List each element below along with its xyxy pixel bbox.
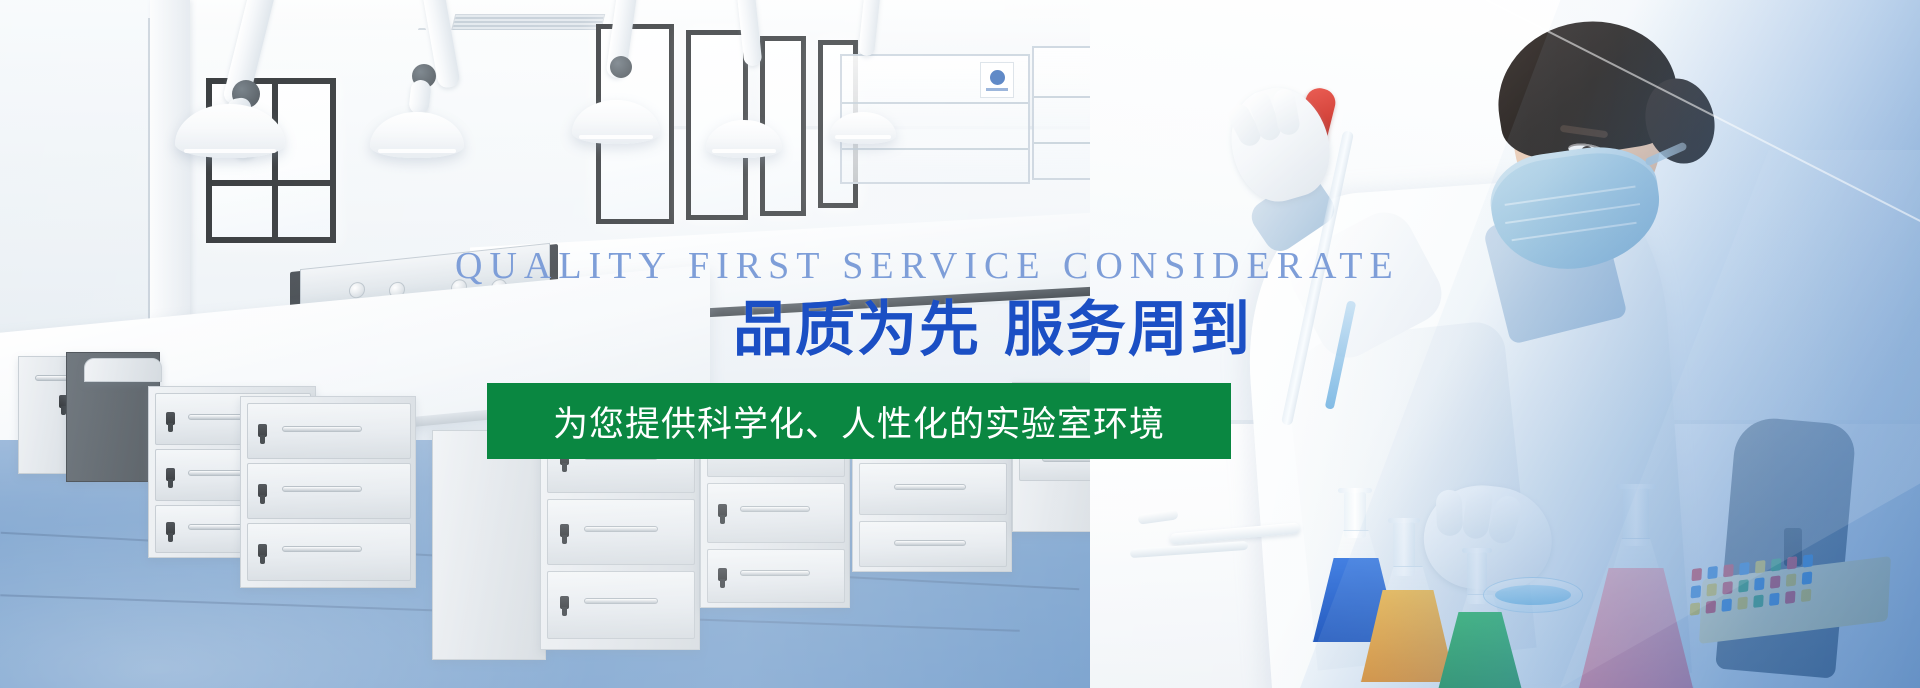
cabinet-drawer xyxy=(247,523,411,581)
tip-cell xyxy=(1706,583,1717,596)
tip-cell xyxy=(1691,568,1702,581)
cabinet-drawer xyxy=(859,463,1007,515)
tip-cell xyxy=(1707,566,1718,579)
tip-cell xyxy=(1771,558,1782,571)
arm-joint xyxy=(610,56,632,78)
tip-cell xyxy=(1786,573,1797,586)
mask-pleat xyxy=(1505,186,1636,206)
drawer-handle xyxy=(584,598,658,604)
tip-cell xyxy=(1755,560,1766,573)
tip-cell xyxy=(1753,595,1764,608)
cabinet-drawer xyxy=(859,521,1007,567)
drawer-handle xyxy=(282,486,362,492)
cabinet-unit xyxy=(240,396,416,588)
headline-chinese: 品质为先 服务周到 xyxy=(733,298,1252,363)
tip-cell xyxy=(1769,593,1780,606)
drawer-handle xyxy=(894,484,966,490)
drawer-handle xyxy=(894,540,966,546)
hero-banner: QUALITY FIRST SERVICE CONSIDERATE 品质为先 服… xyxy=(0,0,1920,688)
headline-english: QUALITY FIRST SERVICE CONSIDERATE xyxy=(455,247,1400,285)
drawer-lock xyxy=(166,522,175,535)
drawer-lock xyxy=(258,484,267,497)
logo-dot-icon xyxy=(990,70,1005,85)
drawer-lock xyxy=(258,544,267,557)
drawer-lock xyxy=(718,504,727,517)
cabinet-drawer xyxy=(707,483,845,543)
tip-cell xyxy=(1801,589,1812,602)
tip-cell xyxy=(1754,577,1765,590)
drawer-handle xyxy=(740,570,810,576)
drawer-lock xyxy=(718,568,727,581)
tip-cell xyxy=(1802,571,1813,584)
drawer-lock xyxy=(560,524,569,537)
cabinet-drawer xyxy=(707,549,845,603)
wall-logo-badge xyxy=(980,62,1014,98)
drawer-lock xyxy=(166,412,175,425)
glove-finger xyxy=(1436,489,1464,536)
cabinet-drawer xyxy=(247,463,411,519)
drawer-lock xyxy=(258,424,267,437)
drawer-handle xyxy=(282,426,362,432)
drawer-handle xyxy=(282,546,362,552)
subtitle-text: 为您提供科学化、人性化的实验室环境 xyxy=(553,396,1165,447)
tip-cell xyxy=(1691,585,1702,598)
subtitle-green-band: 为您提供科学化、人性化的实验室环境 xyxy=(487,383,1231,459)
tip-cell xyxy=(1770,575,1781,588)
tip-cell xyxy=(1739,562,1750,575)
window-mullion xyxy=(272,84,278,237)
shelf-line xyxy=(842,102,1028,104)
support-column xyxy=(150,0,190,330)
mask-pleat xyxy=(1512,222,1637,242)
flask-neck xyxy=(1623,488,1649,546)
cabinet-shelf xyxy=(84,358,162,382)
drawer-handle xyxy=(740,506,810,512)
tip-cell xyxy=(1722,581,1733,594)
petri-dish-liquid xyxy=(1495,585,1571,605)
tip-cell xyxy=(1723,564,1734,577)
cabinet-drawer xyxy=(247,403,411,459)
drawer-lock xyxy=(166,468,175,481)
tip-cell xyxy=(1721,598,1732,611)
mask-pleat xyxy=(1505,203,1640,224)
drawer-handle xyxy=(584,526,658,532)
cabinet-drawer xyxy=(547,571,695,639)
shelf-line xyxy=(842,148,1028,150)
tip-cell xyxy=(1690,602,1701,615)
logo-bar xyxy=(986,88,1008,91)
tip-cell xyxy=(1785,591,1796,604)
tip-cell xyxy=(1787,556,1798,569)
cabinet-side-panel xyxy=(432,430,546,660)
tip-cell xyxy=(1737,596,1748,609)
tip-cell xyxy=(1803,554,1814,567)
window xyxy=(206,78,336,243)
tip-cell xyxy=(1738,579,1749,592)
cabinet-drawer xyxy=(547,499,695,565)
window-mullion xyxy=(212,180,330,186)
drawer-lock xyxy=(560,596,569,609)
tray-knob xyxy=(349,281,365,299)
tip-cell xyxy=(1706,600,1717,613)
